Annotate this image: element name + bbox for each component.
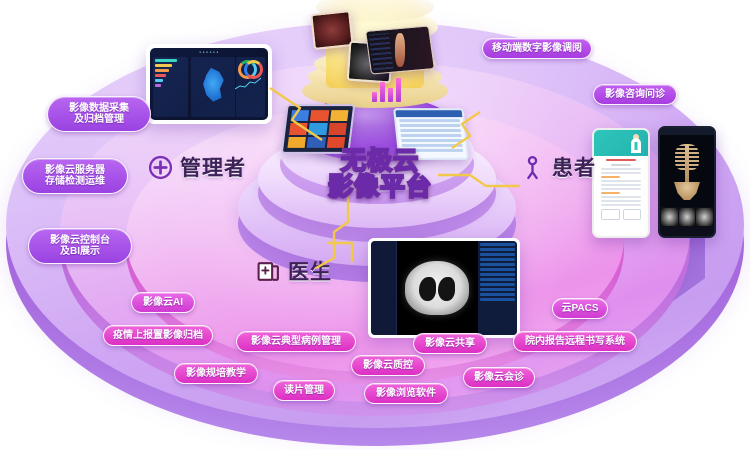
angiography-image-panel <box>365 25 435 74</box>
pill-remote-reporting[interactable]: 院内报告远程书写系统 <box>513 331 637 352</box>
endoscopy-image-panel <box>310 10 354 50</box>
pill-case-management[interactable]: 影像云典型病例管理 <box>236 331 356 352</box>
dashboard-line-chart <box>235 77 261 91</box>
pill-line2: 及BI展示 <box>60 246 100 257</box>
person-icon <box>520 155 545 180</box>
app-body-card <box>597 159 645 220</box>
pill-consultation[interactable]: 影像咨询问诊 <box>593 84 677 105</box>
dashboard-right-column <box>236 57 266 117</box>
infographic-canvas: ● ● ● ● ● ● <box>0 0 750 450</box>
role-doctor[interactable]: 医生 <box>256 256 332 286</box>
pill-data-collection[interactable]: 影像数据采集 及归档管理 <box>47 96 151 132</box>
tile-grid <box>287 110 348 148</box>
pill-label: 影像云AI <box>143 297 183 308</box>
pill-line1: 影像数据采集 <box>69 103 129 114</box>
pill-label: 云PACS <box>561 303 598 314</box>
pill-cloud-pacs[interactable]: 云PACS <box>552 298 608 319</box>
pill-line2: 及归档管理 <box>74 114 124 125</box>
pill-quality-control[interactable]: 影像云质控 <box>351 355 425 376</box>
role-admin-label: 管理者 <box>180 152 246 182</box>
pill-film-reading[interactable]: 读片管理 <box>273 380 335 401</box>
app-button-left[interactable] <box>601 209 620 220</box>
pacs-thumbnail-rail <box>371 241 397 335</box>
patient-mobile-app[interactable] <box>592 128 650 238</box>
medical-record-icon <box>256 259 281 284</box>
purple-bar-chart-panel <box>372 74 406 102</box>
pill-label: 影像咨询问诊 <box>605 89 665 100</box>
pill-console-bi[interactable]: 影像云控制台 及BI展示 <box>28 228 132 264</box>
pill-label: 影像云共享 <box>425 338 475 349</box>
pill-mobile-retrieval[interactable]: 移动端数字影像调阅 <box>482 38 592 59</box>
pill-cloud-sharing[interactable]: 影像云共享 <box>413 333 487 354</box>
dashboard-left-column <box>153 57 188 117</box>
role-patient[interactable]: 患者 <box>520 152 596 182</box>
pill-label: 影像云会诊 <box>474 372 524 383</box>
pill-cloud-ai[interactable]: 影像云AI <box>131 292 195 313</box>
role-admin[interactable]: 管理者 <box>148 152 246 182</box>
bi-dashboard-screen[interactable]: ● ● ● ● ● ● <box>146 44 272 124</box>
angio-grid <box>369 33 394 70</box>
pill-line1: 影像云控制台 <box>50 235 110 246</box>
pill-viewer-software[interactable]: 影像浏览软件 <box>364 383 448 404</box>
app-header <box>594 130 648 156</box>
role-doctor-label: 医生 <box>288 256 332 286</box>
pill-label: 影像规培教学 <box>186 368 246 379</box>
pill-label: 影像云质控 <box>363 360 413 371</box>
pill-line1: 影像云服务器 <box>45 165 105 176</box>
pill-training-education[interactable]: 影像规培教学 <box>174 363 258 384</box>
pill-cloud-server-ops[interactable]: 影像云服务器 存储检测运维 <box>22 158 128 194</box>
role-patient-label: 患者 <box>552 152 596 182</box>
viewer-3d-image <box>660 135 714 207</box>
pill-line2: 存储检测运维 <box>45 176 105 187</box>
platform-title-line2: 影像平台 <box>318 174 442 200</box>
circle-plus-medical-icon <box>148 155 173 180</box>
dashboard-title-bar: ● ● ● ● ● ● <box>150 50 268 54</box>
app-button-right[interactable] <box>623 209 642 220</box>
chest-ct-image <box>405 261 469 315</box>
pill-label: 影像浏览软件 <box>376 388 436 399</box>
pacs-image-area <box>397 241 478 335</box>
viewer-toolbar[interactable] <box>660 128 714 135</box>
pill-cloud-consult[interactable]: 影像云会诊 <box>463 367 535 388</box>
doctor-illustration-icon <box>628 133 644 153</box>
pill-label: 移动端数字影像调阅 <box>492 43 582 54</box>
mobile-image-viewer[interactable] <box>658 126 716 238</box>
pill-epidemic-archive[interactable]: 疫情上报置影像归档 <box>103 325 213 346</box>
pacs-report-panel <box>478 241 517 335</box>
pill-label: 读片管理 <box>284 385 324 396</box>
pacs-content <box>371 241 517 335</box>
dashboard-content: ● ● ● ● ● ● <box>150 48 268 120</box>
platform-title-line1: 无极云 <box>318 148 442 174</box>
platform-title: 无极云 影像平台 <box>318 148 442 200</box>
pacs-ct-viewer-screen[interactable] <box>368 238 520 338</box>
pill-label: 疫情上报置影像归档 <box>113 330 203 341</box>
dashboard-map-panel <box>191 57 235 117</box>
pill-label: 院内报告远程书写系统 <box>525 336 625 347</box>
angio-vessel <box>395 33 405 67</box>
skeleton-3d-render <box>672 142 702 200</box>
pill-label: 影像云典型病例管理 <box>251 336 341 347</box>
table-header-bar <box>395 110 462 117</box>
app-action-buttons[interactable] <box>601 209 641 220</box>
viewer-slice-strip[interactable] <box>660 207 714 227</box>
